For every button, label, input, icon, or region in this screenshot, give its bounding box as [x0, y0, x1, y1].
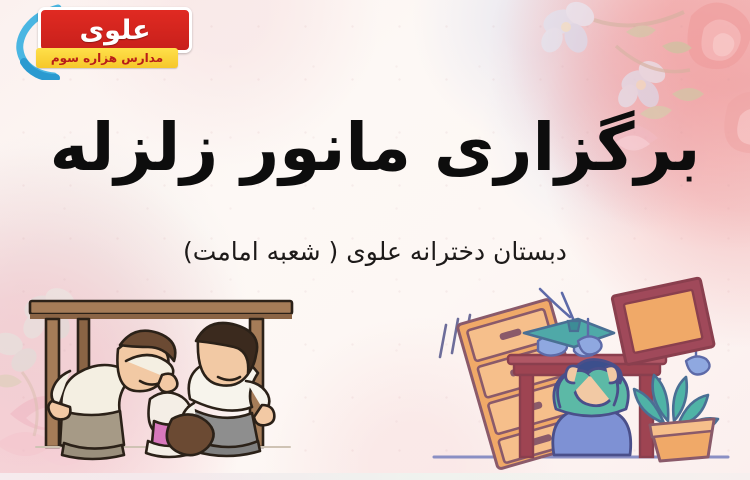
page-subtitle: دبستان دخترانه علوی ( شعبه امامت)	[0, 237, 750, 267]
bottom-accent-strip	[0, 473, 750, 480]
logo-tagline-text: مدارس هزاره سوم	[51, 52, 163, 64]
illustration-drop-cover-hold-family	[22, 295, 302, 475]
poster-canvas: علوی مدارس هزاره سوم برگزاری مانور زلزله…	[0, 0, 750, 480]
page-title: برگزاری مانور زلزله	[0, 112, 750, 183]
logo-brand-text: علوی	[79, 17, 150, 44]
logo-brand-box: علوی	[38, 7, 192, 53]
logo-tagline-banner: مدارس هزاره سوم	[36, 48, 178, 68]
person-ducking	[553, 360, 631, 456]
falling-picture-frame	[612, 278, 715, 365]
illustration-duck-cover-hold-office	[428, 275, 738, 475]
school-logo[interactable]: علوی مدارس هزاره سوم	[14, 4, 204, 76]
